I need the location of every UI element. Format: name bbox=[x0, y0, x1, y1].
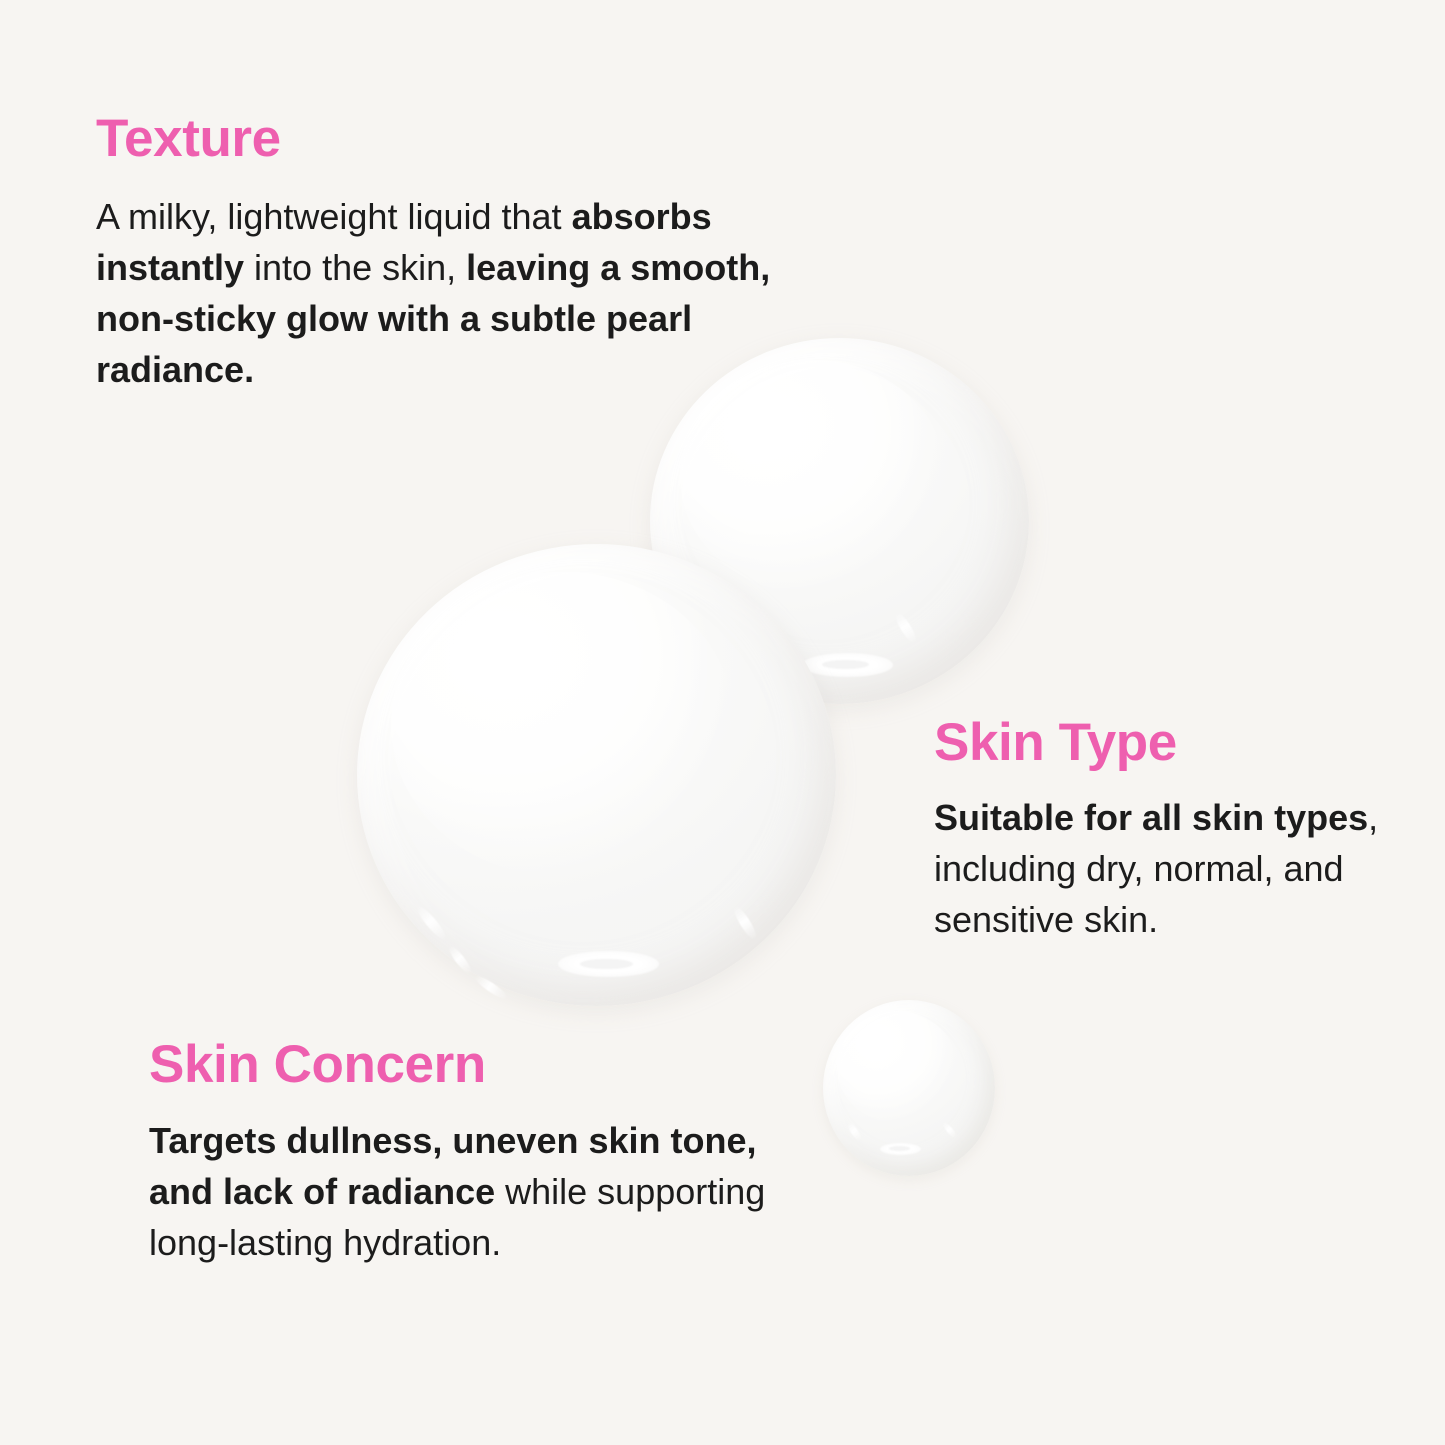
droplet-sheen bbox=[391, 572, 736, 877]
droplet-streak-highlight bbox=[893, 611, 919, 645]
section-skin-type: Skin Type Suitable for all skin types, i… bbox=[934, 716, 1414, 945]
section-skin-concern: Skin Concern Targets dullness, uneven sk… bbox=[149, 1038, 829, 1268]
droplet-body bbox=[357, 544, 836, 1006]
section-body-skin-concern: Targets dullness, uneven skin tone, and … bbox=[149, 1115, 829, 1268]
droplet-specular-highlight bbox=[558, 951, 659, 978]
droplet-rim bbox=[823, 1000, 995, 1176]
small-serum-droplet bbox=[823, 1000, 995, 1176]
droplet-streak-highlight bbox=[709, 617, 734, 646]
droplet-specular-highlight bbox=[802, 653, 893, 677]
section-heading-texture: Texture bbox=[96, 112, 776, 165]
droplet-sheen bbox=[680, 360, 945, 594]
droplet-streak-highlight bbox=[473, 973, 510, 1002]
droplet-body bbox=[823, 1000, 995, 1176]
section-texture: Texture A milky, lightweight liquid that… bbox=[96, 112, 776, 395]
section-heading-skin-type: Skin Type bbox=[934, 716, 1414, 769]
section-body-skin-type: Suitable for all skin types, including d… bbox=[934, 792, 1414, 945]
droplet-streak-highlight bbox=[446, 944, 474, 976]
droplet-streak-highlight bbox=[941, 1121, 958, 1140]
droplet-rim bbox=[357, 544, 836, 1006]
large-serum-droplet bbox=[357, 544, 836, 1006]
section-body-texture: A milky, lightweight liquid that absorbs… bbox=[96, 191, 776, 395]
droplet-specular-highlight bbox=[880, 1143, 921, 1155]
section-heading-skin-concern: Skin Concern bbox=[149, 1038, 829, 1091]
droplet-streak-highlight bbox=[845, 1121, 862, 1142]
droplet-sheen bbox=[837, 1011, 957, 1124]
product-benefits-infographic: Texture A milky, lightweight liquid that… bbox=[0, 0, 1445, 1445]
droplet-streak-highlight bbox=[731, 904, 760, 942]
droplet-streak-highlight bbox=[413, 904, 448, 944]
